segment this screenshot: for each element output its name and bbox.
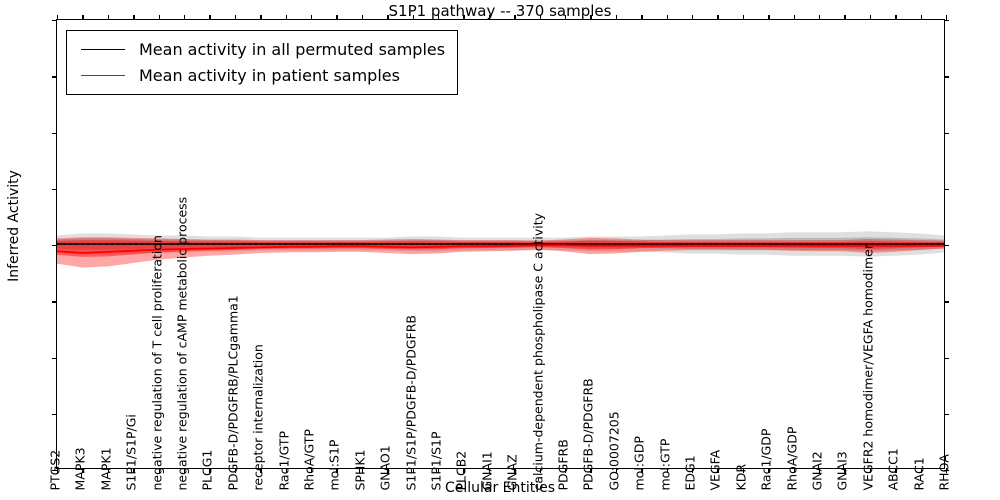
x-tick-mark — [921, 15, 922, 20]
x-tick-label: PLCG1 — [202, 450, 215, 491]
y-tick-mark — [944, 76, 949, 77]
y-tick-mark — [52, 414, 57, 415]
y-tick-mark — [944, 358, 949, 359]
x-tick-mark — [387, 15, 388, 20]
legend-swatch-permuted — [81, 49, 125, 50]
x-tick-mark — [946, 15, 947, 20]
x-tick-label: mol:S1P — [329, 440, 342, 491]
y-tick-mark — [52, 20, 57, 21]
x-tick-label: Rac1/GTP — [278, 431, 291, 491]
x-tick-label: MAPK1 — [100, 447, 113, 490]
x-tick-label: VEGFR2 homodimer/VEGFA homodimer — [862, 244, 875, 490]
y-tick-mark — [944, 189, 949, 190]
x-tick-mark — [692, 15, 693, 20]
x-tick-mark — [133, 15, 134, 20]
x-tick-mark — [590, 15, 591, 20]
x-tick-mark — [743, 15, 744, 20]
y-tick-mark — [944, 245, 949, 246]
legend-label-patient: Mean activity in patient samples — [139, 66, 400, 85]
x-tick-mark — [159, 15, 160, 20]
chart-figure: S1P1 pathway -- 370 samples Inferred Act… — [0, 0, 1000, 500]
x-tick-mark — [870, 15, 871, 20]
x-tick-label: PDGFB-D/PDGFRB/PLCgamma1 — [227, 295, 240, 490]
x-tick-label: KDR — [735, 464, 748, 491]
x-tick-label: PTGS2 — [50, 450, 63, 491]
y-tick-mark — [944, 414, 949, 415]
y-tick-mark — [52, 76, 57, 77]
legend-label-permuted: Mean activity in all permuted samples — [139, 40, 445, 59]
x-tick-label: VEGFA — [710, 450, 723, 491]
x-tick-mark — [794, 15, 795, 20]
legend-swatch-patient — [81, 75, 125, 76]
x-tick-mark — [235, 15, 236, 20]
x-tick-mark — [413, 15, 414, 20]
x-tick-mark — [819, 15, 820, 20]
x-tick-mark — [844, 15, 845, 20]
y-axis-label: Inferred Activity — [6, 126, 22, 326]
x-tick-mark — [463, 15, 464, 20]
x-tick-label: mol:GTP — [659, 439, 672, 491]
legend-item: Mean activity in all permuted samples — [77, 36, 445, 62]
x-tick-label: calcium-dependent phospholipase C activi… — [532, 213, 545, 491]
chart-legend: Mean activity in all permuted samples Me… — [66, 30, 458, 95]
x-tick-label: RAC1 — [913, 457, 926, 490]
x-tick-mark — [540, 15, 541, 20]
x-tick-mark — [108, 15, 109, 20]
x-tick-label: RHOA — [939, 454, 952, 490]
legend-item: Mean activity in patient samples — [77, 62, 445, 88]
x-tick-mark — [336, 15, 337, 20]
x-tick-label: Rac1/GDP — [761, 429, 774, 491]
x-tick-label: PDGFRB — [558, 439, 571, 490]
x-tick-label: EDG1 — [685, 455, 698, 490]
y-tick-mark — [944, 133, 949, 134]
x-tick-label: SPHK1 — [354, 449, 367, 490]
x-tick-mark — [514, 15, 515, 20]
x-tick-label: GNAO1 — [380, 445, 393, 490]
x-tick-label: S1P1/S1P/Gi — [126, 414, 139, 490]
x-tick-label: mol:GDP — [634, 436, 647, 490]
y-tick-mark — [944, 301, 949, 302]
x-tick-mark — [260, 15, 261, 20]
x-tick-mark — [82, 15, 83, 20]
x-tick-label: RhoA/GTP — [304, 429, 317, 490]
y-tick-mark — [52, 301, 57, 302]
x-tick-label: receptor internalization — [253, 344, 266, 490]
x-tick-mark — [667, 15, 668, 20]
x-tick-mark — [286, 15, 287, 20]
x-tick-mark — [717, 15, 718, 20]
x-tick-label: PDGFB-D/PDGFRB — [583, 378, 596, 490]
x-tick-mark — [362, 15, 363, 20]
y-tick-mark — [52, 245, 57, 246]
x-tick-mark — [209, 15, 210, 20]
y-tick-mark — [944, 20, 949, 21]
x-tick-mark — [311, 15, 312, 20]
x-tick-mark — [184, 15, 185, 20]
chart-title: S1P1 pathway -- 370 samples — [0, 2, 1000, 20]
x-tick-mark — [57, 15, 58, 20]
x-tick-label: negative regulation of cAMP metabolic pr… — [177, 197, 190, 491]
x-tick-label: PLCB2 — [456, 451, 469, 491]
x-tick-mark — [489, 15, 490, 20]
y-tick-mark — [52, 358, 57, 359]
x-tick-label: S1P1/S1P — [431, 431, 444, 490]
x-tick-label: MAPK3 — [75, 447, 88, 490]
x-tick-mark — [438, 15, 439, 20]
x-tick-label: negative regulation of T cell proliferat… — [151, 235, 164, 490]
x-tick-label: ABCC1 — [888, 448, 901, 490]
x-tick-label: GO:0007205 — [608, 411, 621, 490]
x-tick-mark — [768, 15, 769, 20]
x-tick-label: GNAI1 — [481, 451, 494, 490]
x-tick-label: GNAI2 — [812, 451, 825, 490]
x-tick-label: GNAZ — [507, 454, 520, 490]
y-tick-mark — [52, 133, 57, 134]
x-tick-mark — [616, 15, 617, 20]
x-tick-label: GNAI3 — [837, 451, 850, 490]
x-tick-mark — [895, 15, 896, 20]
x-tick-label: S1P1/S1P/PDGFB-D/PDGFRB — [405, 315, 418, 491]
x-tick-mark — [565, 15, 566, 20]
x-tick-mark — [641, 15, 642, 20]
x-tick-label: RhoA/GDP — [786, 427, 799, 491]
y-tick-mark — [52, 189, 57, 190]
